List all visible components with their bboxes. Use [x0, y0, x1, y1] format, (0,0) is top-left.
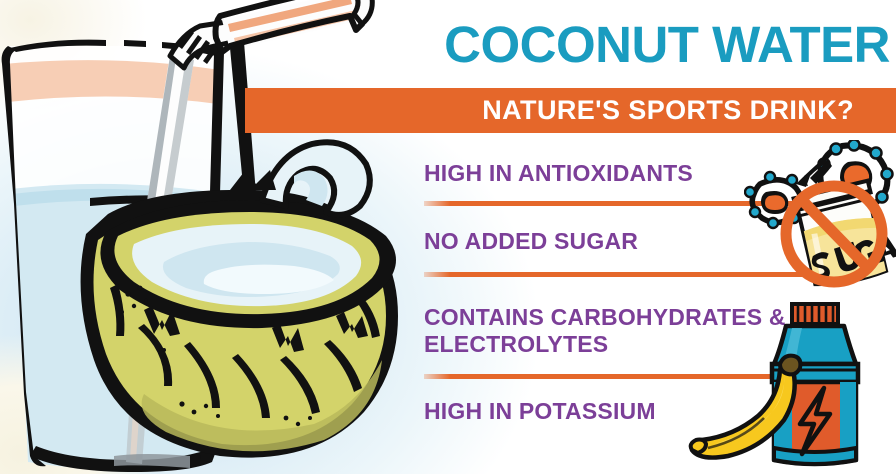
benefit-divider-2 — [424, 272, 824, 277]
sports-drink-bottle-banana-icon — [688, 298, 888, 474]
subtitle-banner: NATURE'S SPORTS DRINK? — [245, 88, 896, 133]
benefit-item-antioxidants: HIGH IN ANTIOXIDANTS — [424, 160, 693, 187]
benefit-item-potassium: HIGH IN POTASSIUM — [424, 398, 656, 425]
benefit-item-no-added-sugar: NO ADDED SUGAR — [424, 228, 638, 255]
no-added-sugar-jar-icon — [780, 178, 896, 290]
page-title: COCONUT WATER — [330, 14, 890, 76]
infographic-root: COCONUT WATER NATURE'S SPORTS DRINK? HIG… — [0, 0, 896, 474]
page-subtitle: NATURE'S SPORTS DRINK? — [482, 88, 854, 133]
